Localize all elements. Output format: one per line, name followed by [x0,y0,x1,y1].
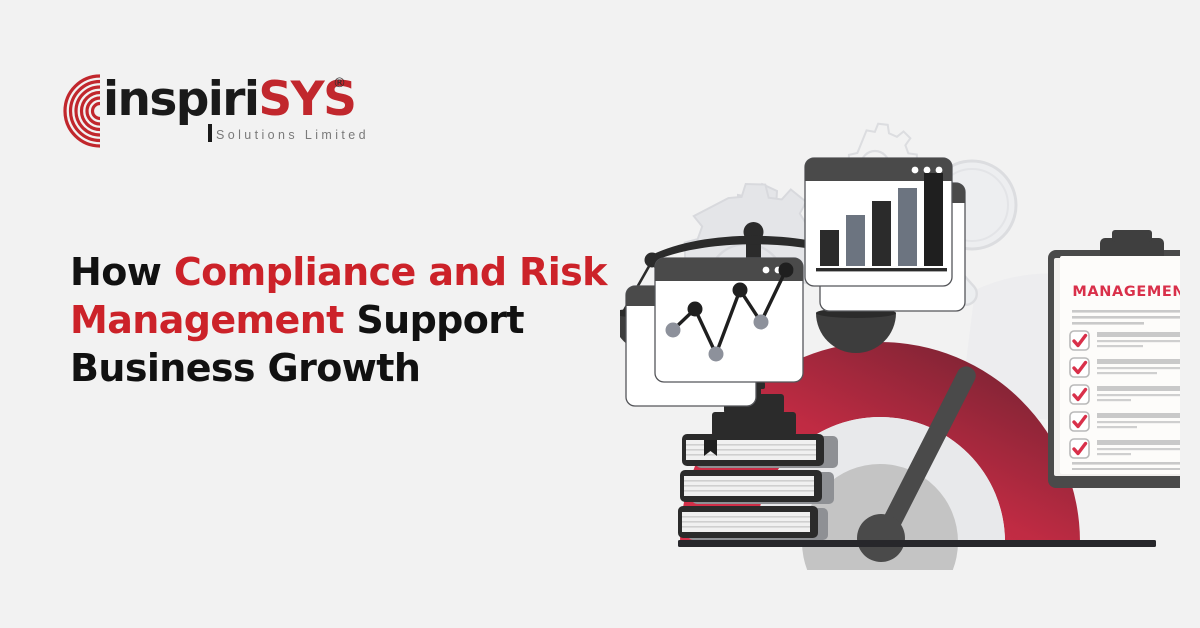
headline-segment-2: Compliance and Risk [174,250,607,294]
banner-root: inspiriSYS ® Solutions Limited How Compl… [0,0,1200,628]
headline-segment-4: Support [344,298,524,342]
window-dot [924,167,931,174]
clipboard-title: MANAGEMENT [1072,284,1180,300]
logo-tagline: Solutions Limited [216,128,369,142]
bar [898,188,917,266]
registered-trademark-icon: ® [333,76,346,91]
bar [820,230,839,266]
bar-chart-window [805,158,952,286]
logo-wordmark: inspiriSYS ® Solutions Limited [103,72,343,132]
company-logo[interactable]: inspiriSYS ® Solutions Limited [63,70,333,152]
page-title: How Compliance and Risk Management Suppo… [70,248,630,392]
bar [872,201,891,266]
hero-illustration: MANAGEMENT [620,110,1180,570]
headline-segment-5: Business Growth [70,346,420,390]
line-chart-window [655,258,803,382]
logo-word-dark: inspiri [103,72,258,127]
bar [924,173,943,266]
book-stack [678,434,838,540]
bar [846,215,865,266]
clipboard: MANAGEMENT [1048,230,1180,488]
baseline [678,540,1156,547]
logo-divider [208,124,212,142]
headline-segment-1: How [70,250,174,294]
window-dot [763,267,770,274]
window-dot [936,167,943,174]
window-dot [912,167,919,174]
bar-chart-axis [816,268,947,271]
headline-segment-3: Management [70,298,344,342]
